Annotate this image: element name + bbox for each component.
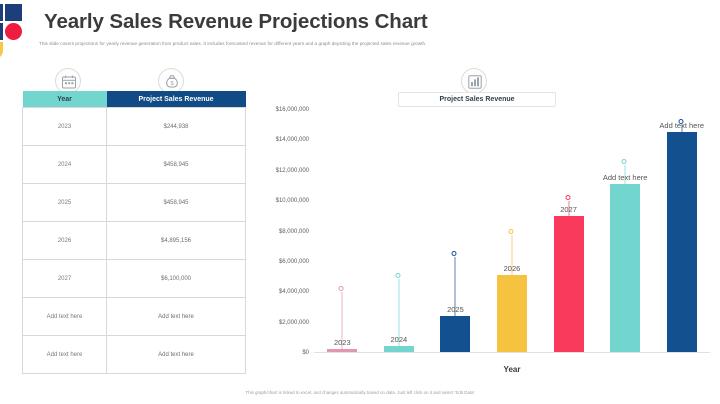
callout-pin: 2024 [398,272,399,346]
callout-pin-dot [622,159,627,164]
bar[interactable] [554,216,584,353]
callout-pin-dot [452,251,457,256]
bar[interactable] [667,132,697,353]
callout-label: 2024 [391,335,408,344]
bar-group[interactable]: Add text here [597,110,654,353]
cell-revenue: $458,945 [107,184,246,222]
callout-pin: 2026 [511,228,512,274]
callout-pin-dot [508,229,513,234]
chart-title-box: Project Sales Revenue [398,92,556,107]
cell-revenue: $244,938 [107,108,246,146]
table-row[interactable]: 2025 $458,945 [23,184,246,222]
logo-circle-red [5,23,22,40]
cell-revenue: Add text here [107,298,246,336]
cell-year: Add text here [23,336,107,374]
y-axis-tick: $10,000,000 [276,198,309,204]
bar[interactable] [497,275,527,353]
table-row[interactable]: 2027 $6,100,000 [23,260,246,298]
callout-pin-dot [395,273,400,278]
callout-label: Add text here [659,121,704,130]
table-row[interactable]: Add text here Add text here [23,336,246,374]
callout-label: Add text here [603,173,648,182]
x-axis-label: Year [314,365,710,374]
bar-group[interactable]: 2027 [540,110,597,353]
bar-group[interactable]: 2024 [371,110,428,353]
cell-year: 2024 [23,146,107,184]
bar-group[interactable]: 2025 [427,110,484,353]
y-axis-tick: $6,000,000 [279,259,309,265]
page-title: Yearly Sales Revenue Projections Chart [44,10,428,34]
table-header-year: Year [23,91,107,108]
cell-revenue: $458,945 [107,146,246,184]
cell-revenue: $6,100,000 [107,260,246,298]
callout-pin: Add text here [625,158,626,185]
logo-square-1 [0,4,3,21]
cell-revenue: $4,895,156 [107,222,246,260]
bar[interactable] [440,316,470,353]
y-axis-tick: $14,000,000 [276,137,309,143]
y-axis-tick: $12,000,000 [276,168,309,174]
logo-shape-yellow [0,42,3,59]
cell-year: 2027 [23,260,107,298]
callout-pin: 2027 [568,194,569,216]
callout-pin-dot [339,286,344,291]
y-axis: $16,000,000$14,000,000$12,000,000$10,000… [258,110,312,362]
y-axis-tick: $16,000,000 [276,107,309,113]
bar[interactable] [610,184,640,353]
table-body: 2023 $244,938 2024 $458,945 2025 $458,94… [23,108,246,374]
callout-pin: 2025 [455,250,456,316]
logo-square-2 [5,4,22,21]
table-row[interactable]: 2024 $458,945 [23,146,246,184]
bar-chart[interactable]: $16,000,000$14,000,000$12,000,000$10,000… [258,110,710,362]
y-axis-tick: $0 [302,350,309,356]
cell-revenue: Add text here [107,336,246,374]
chart-title: Project Sales Revenue [399,93,555,106]
y-axis-tick: $8,000,000 [279,229,309,235]
callout-label: 2023 [334,338,351,347]
cell-year: 2025 [23,184,107,222]
bar-group[interactable]: 2023 [314,110,371,353]
callout-pin: Add text here [681,118,682,132]
chart-bars-area: 20232024202520262027Add text hereAdd tex… [314,110,710,353]
callout-pin: 2023 [342,285,343,350]
table-row[interactable]: Add text here Add text here [23,298,246,336]
page-subtitle: This slide covers projections for yearly… [39,41,599,46]
callout-label: 2026 [504,264,521,273]
table-row[interactable]: 2023 $244,938 [23,108,246,146]
cell-year: 2023 [23,108,107,146]
table-header-row: Year Project Sales Revenue [23,91,246,108]
y-axis-tick: $2,000,000 [279,320,309,326]
bar-chart-icon [461,68,487,94]
x-axis-baseline [314,352,710,353]
svg-text:$: $ [170,81,173,87]
sales-revenue-table: Year Project Sales Revenue 2023 $244,938… [22,91,246,374]
callout-label: 2027 [560,205,577,214]
y-axis-tick: $4,000,000 [279,289,309,295]
callout-pin-dot [565,195,570,200]
callout-label: 2025 [447,305,464,314]
chart-linked-note: This graph/chart is linked to excel, and… [0,390,720,395]
table-row[interactable]: 2026 $4,895,156 [23,222,246,260]
bar-group[interactable]: 2026 [484,110,541,353]
brand-logo [0,4,32,56]
table-header-revenue: Project Sales Revenue [107,91,246,108]
bar-group[interactable]: Add text here [653,110,710,353]
cell-year: 2026 [23,222,107,260]
logo-square-3 [0,23,3,40]
cell-year: Add text here [23,298,107,336]
